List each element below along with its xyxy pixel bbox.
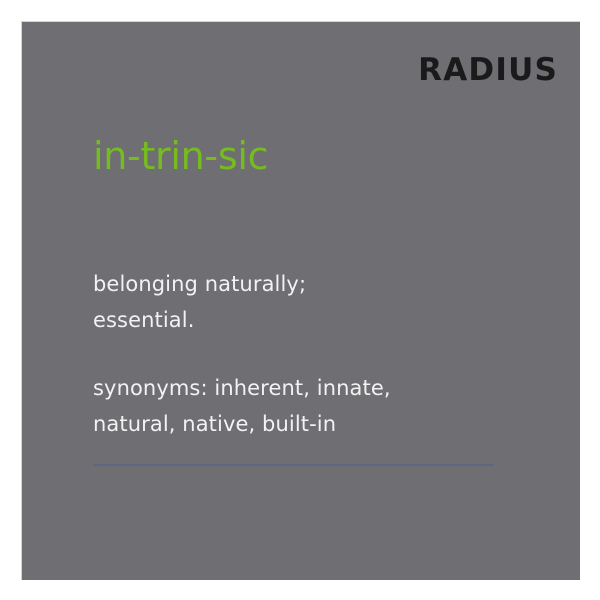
synonyms-line: natural, native, built-in (93, 406, 533, 442)
definition-line: essential. (93, 302, 523, 338)
synonyms-block: synonyms: inherent, innate, natural, nat… (93, 370, 533, 442)
headword: in-trin-sic (93, 134, 268, 180)
word-entry-card: RADIUS in-trin-sic belonging naturally; … (21, 21, 580, 580)
entry-divider (93, 464, 493, 466)
synonyms-line: synonyms: inherent, innate, (93, 370, 533, 406)
definition-block: belonging naturally; essential. (93, 266, 523, 338)
definition-line: belonging naturally; (93, 266, 523, 302)
brand-logo: RADIUS (418, 55, 558, 86)
